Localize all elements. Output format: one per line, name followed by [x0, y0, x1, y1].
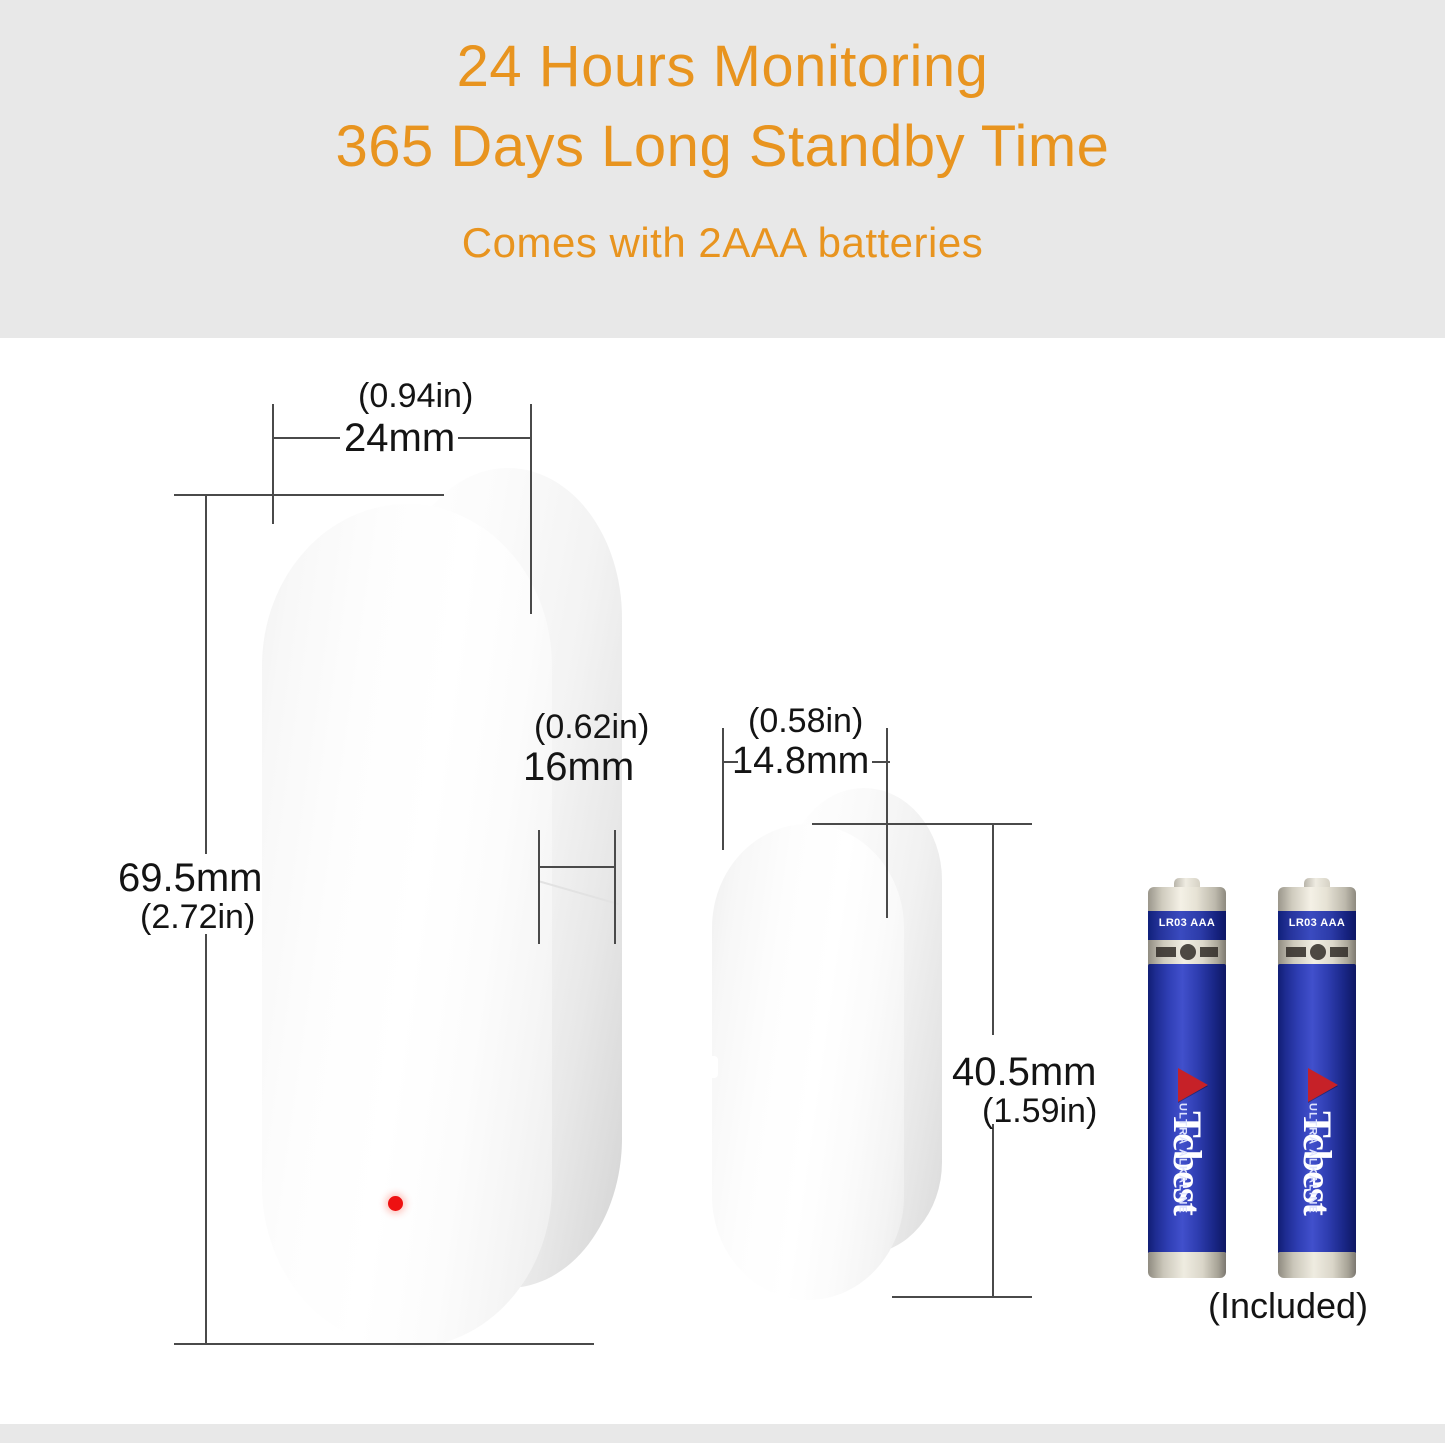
sensor-height-mm-label: 69.5mm	[118, 856, 263, 900]
battery-top-metal-band	[1278, 887, 1356, 913]
sensor-thickness-extension-left	[538, 830, 540, 944]
battery-chemistry-label: ULTRA ALKALINE	[1176, 1094, 1189, 1224]
magnet-front-face	[712, 824, 904, 1300]
sensor-magnet-unit	[712, 788, 942, 1300]
battery-polarity-marks	[1148, 942, 1226, 964]
sensor-width-inches-label: (0.94in)	[358, 377, 473, 415]
headline-subtitle: Comes with 2AAA batteries	[0, 220, 1445, 266]
sensor-thickness-dim-line	[538, 866, 616, 868]
sensor-width-dim-line-left	[272, 437, 340, 439]
magnet-height-mm-label: 40.5mm	[952, 1050, 1097, 1094]
magnet-width-extension-left	[722, 728, 724, 850]
battery-polarity-marks	[1278, 942, 1356, 964]
battery-negative-terminal	[1148, 1252, 1226, 1278]
magnet-height-dim-line-upper	[992, 823, 994, 1035]
sensor-front-face	[262, 504, 552, 1348]
sensor-thickness-extension-right	[614, 830, 616, 944]
product-spec-image: 24 Hours Monitoring 365 Days Long Standb…	[0, 0, 1445, 1443]
magnet-height-extension-bottom	[892, 1296, 1032, 1298]
magnet-width-dim-line-right	[872, 761, 890, 763]
sensor-width-dim-line-right	[458, 437, 532, 439]
battery-type-label: LR03 AAA	[1148, 917, 1226, 930]
footer-band	[0, 1424, 1445, 1443]
battery-top-metal-band	[1148, 887, 1226, 913]
sensor-led-indicator	[388, 1196, 403, 1211]
sensor-thickness-inches-label: (0.62in)	[534, 708, 649, 746]
sensor-width-extension-right	[530, 404, 532, 614]
magnet-width-mm-label: 14.8mm	[732, 740, 869, 782]
sensor-width-mm-label: 24mm	[344, 416, 455, 460]
battery-barrel: Tcbest ULTRA ALKALINE	[1148, 964, 1226, 1254]
magnet-height-inches-label: (1.59in)	[982, 1092, 1097, 1130]
aaa-battery: LR03 AAA Tcbest ULTRA ALKALINE	[1278, 878, 1356, 1278]
battery-type-label: LR03 AAA	[1278, 917, 1356, 930]
magnet-height-dim-line-lower	[992, 1124, 994, 1298]
sensor-height-dim-line-upper	[205, 494, 207, 854]
header-banner: 24 Hours Monitoring 365 Days Long Standb…	[0, 0, 1445, 338]
sensor-height-inches-label: (2.72in)	[140, 898, 255, 936]
batteries-included-note: (Included)	[1128, 1286, 1445, 1326]
sensor-thickness-mm-label: 16mm	[523, 745, 634, 789]
battery-type-band: LR03 AAA	[1278, 911, 1356, 941]
magnet-edge-notch	[711, 1056, 718, 1078]
aaa-battery: LR03 AAA Tcbest ULTRA ALKALINE	[1148, 878, 1226, 1278]
sensor-main-unit	[262, 468, 622, 1348]
battery-barrel: Tcbest ULTRA ALKALINE	[1278, 964, 1356, 1254]
headline-secondary: 365 Days Long Standby Time	[0, 116, 1445, 178]
magnet-height-extension-top	[812, 823, 1032, 825]
sensor-height-extension-bottom	[174, 1343, 594, 1345]
headline-primary: 24 Hours Monitoring	[0, 36, 1445, 98]
magnet-width-inches-label: (0.58in)	[748, 702, 863, 740]
battery-type-band: LR03 AAA	[1148, 911, 1226, 941]
sensor-height-dim-line-lower	[205, 934, 207, 1344]
sensor-width-extension-left	[272, 404, 274, 524]
sensor-height-extension-top	[174, 494, 444, 496]
battery-negative-terminal	[1278, 1252, 1356, 1278]
battery-chemistry-label: ULTRA ALKALINE	[1306, 1094, 1319, 1224]
